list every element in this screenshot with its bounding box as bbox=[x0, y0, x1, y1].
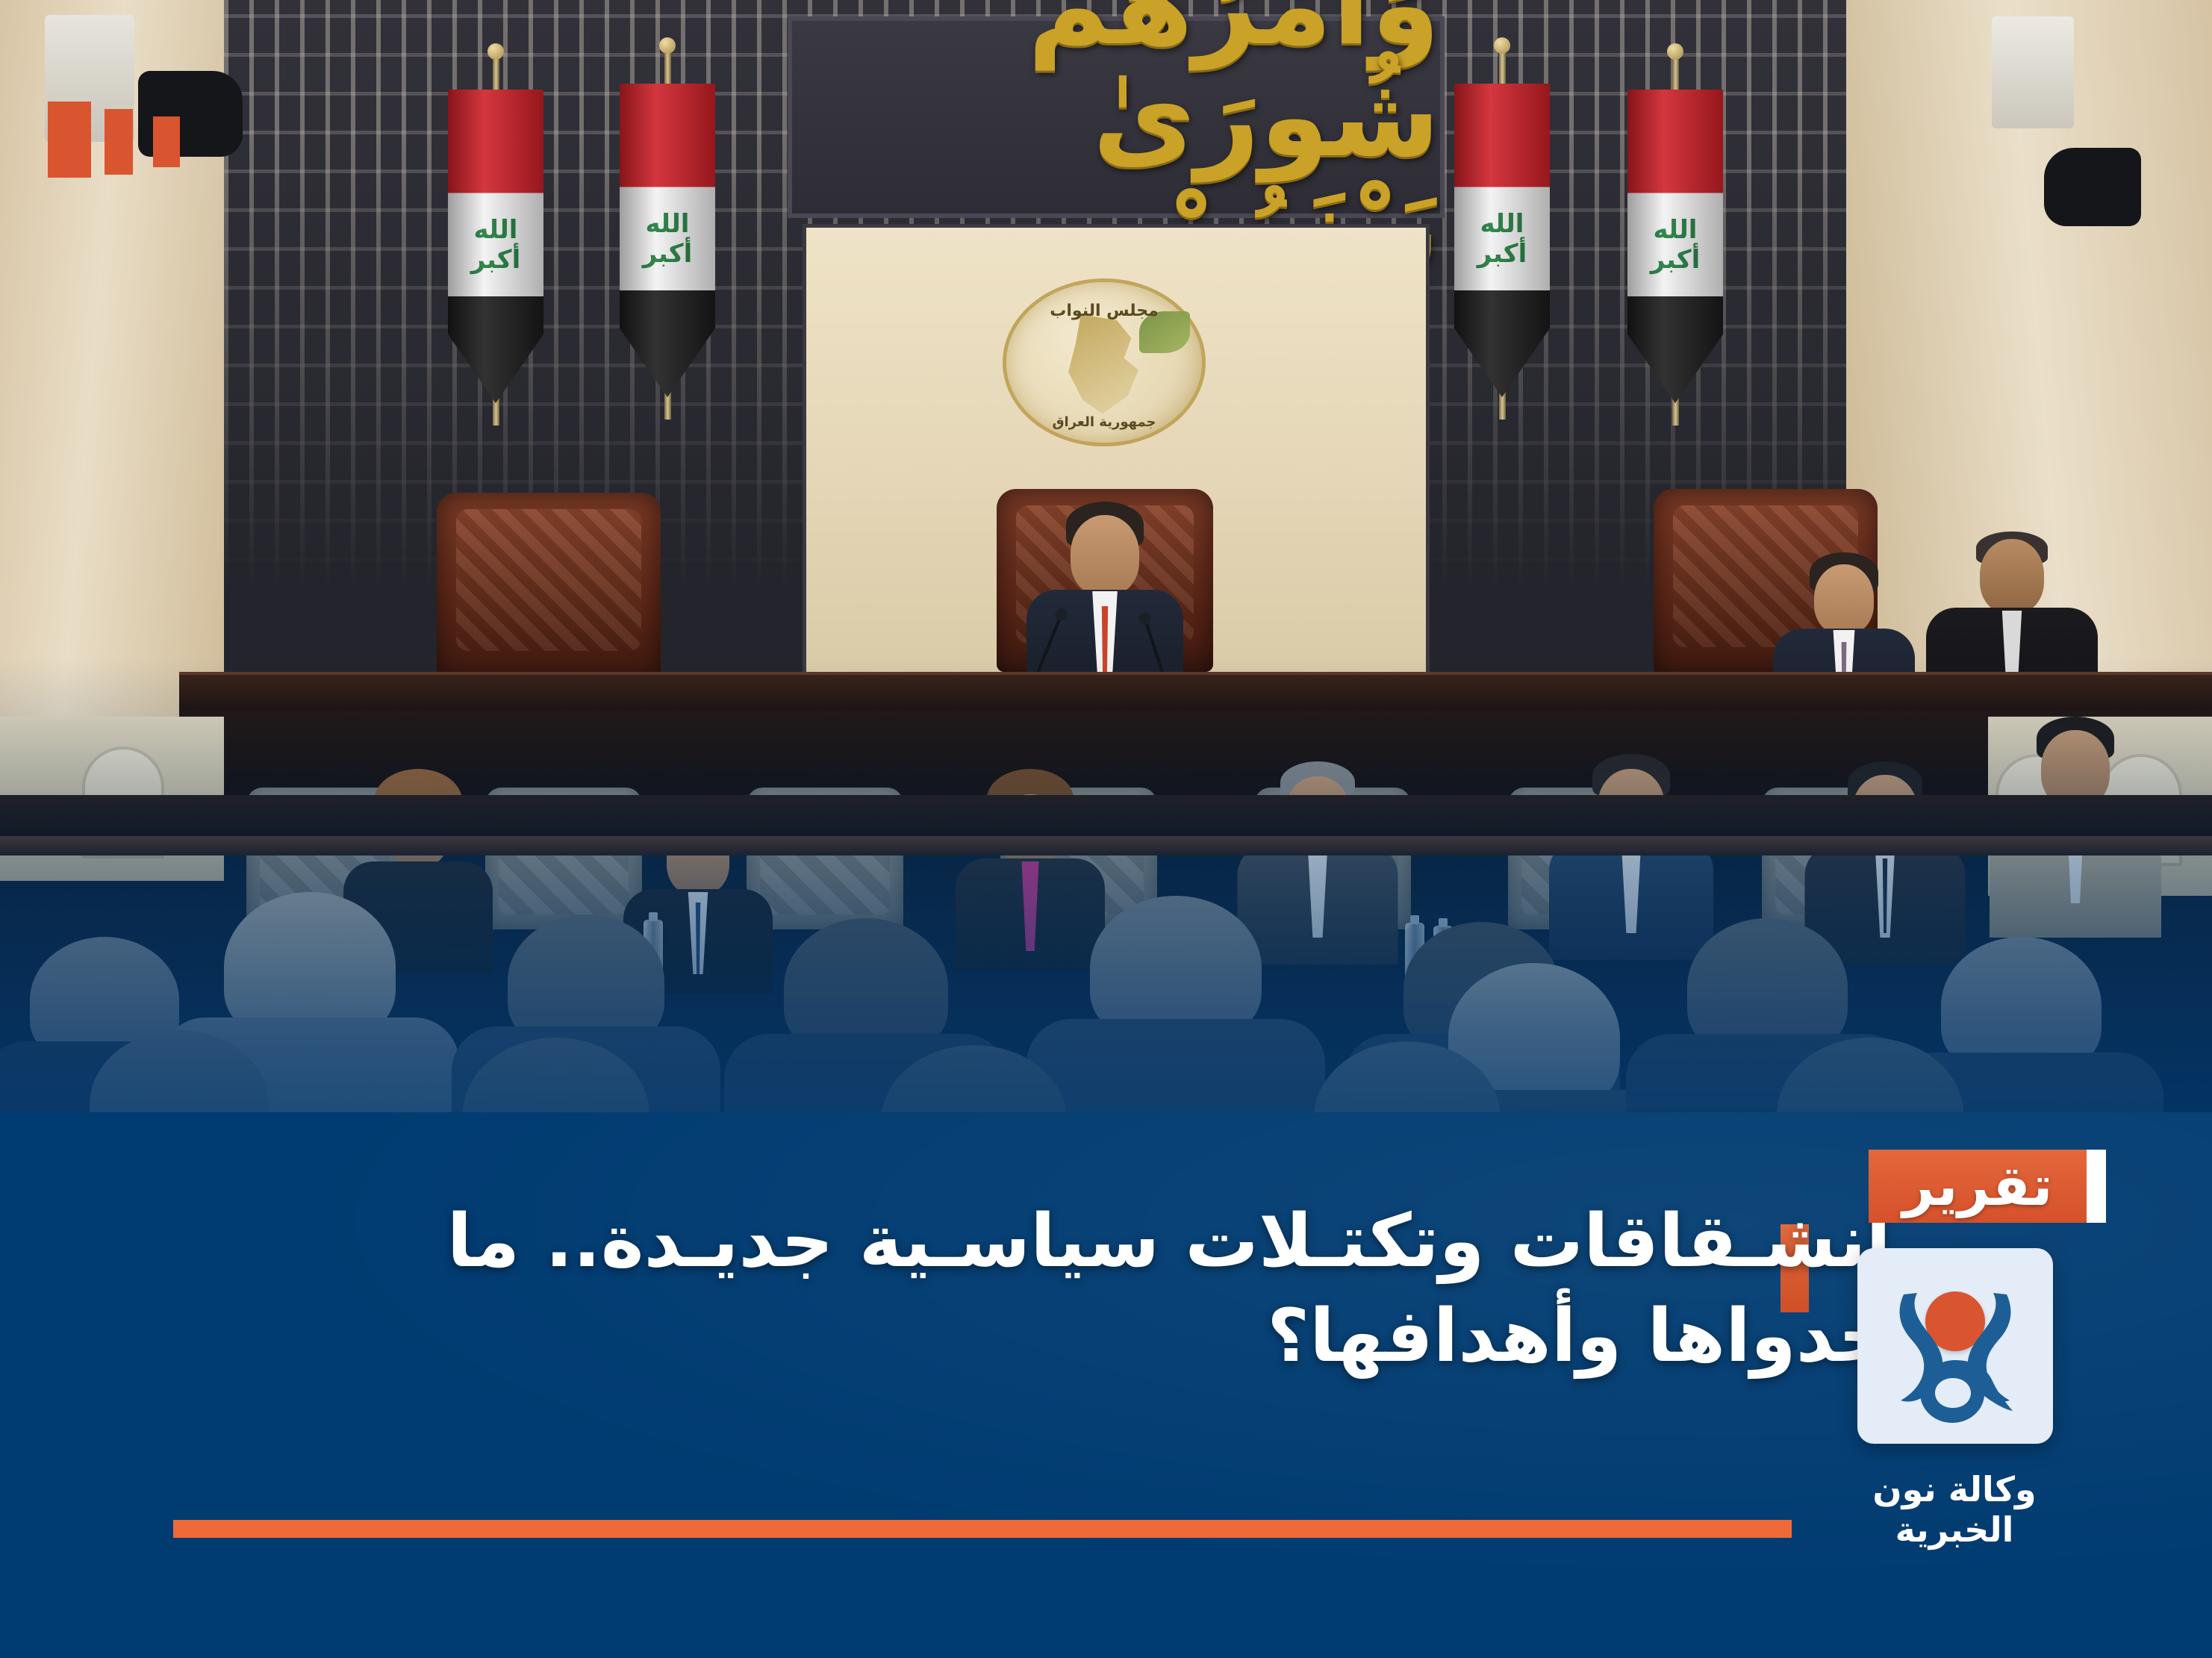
iraq-map-shape bbox=[1061, 314, 1151, 414]
agency-name: وكالة نون الخبرية bbox=[1809, 1469, 2100, 1550]
person-head bbox=[1814, 564, 1874, 635]
badge-white-edge bbox=[2087, 1150, 2106, 1223]
ceiling-camera-housing-right bbox=[1992, 16, 2074, 128]
flag-finial bbox=[487, 43, 504, 60]
chair-tufting bbox=[456, 509, 641, 651]
flag-shading bbox=[448, 90, 543, 403]
wall-calligraphy-text: وَأَمْرُهُمْ شُورَىٰ بَيْنَهُمْ bbox=[792, 21, 1440, 214]
news-card-canvas: وَأَمْرُهُمْ شُورَىٰ بَيْنَهُمْ مجلس الن… bbox=[0, 0, 2212, 1658]
flag-shading bbox=[620, 84, 715, 397]
flag-finial bbox=[1667, 43, 1683, 60]
flag-finial bbox=[659, 37, 676, 54]
iraqi-flag-3: الله أكبر bbox=[1454, 84, 1550, 397]
ornate-chair-left bbox=[437, 493, 661, 679]
iraqi-flag-4: الله أكبر bbox=[1627, 90, 1723, 403]
calligraphy-plaque: وَأَمْرُهُمْ شُورَىٰ بَيْنَهُمْ bbox=[788, 16, 1445, 218]
logo-noon-glyph-icon bbox=[1857, 1248, 2053, 1444]
orange-mark-2 bbox=[105, 109, 133, 175]
headline-line-2: جدواها وأهدافها؟ bbox=[112, 1289, 1891, 1384]
flag-shading bbox=[1627, 90, 1723, 403]
parliament-emblem-icon: مجلس النواب جمهورية العراق bbox=[1006, 282, 1202, 443]
person-head bbox=[1071, 515, 1139, 596]
headline: انشـقاقات وتكتـلات سياسـية جديـدة.. ما ج… bbox=[112, 1194, 1891, 1385]
iraqi-flag-1: الله أكبر bbox=[448, 90, 543, 403]
agency-logo bbox=[1857, 1248, 2053, 1444]
report-badge: تقرير bbox=[1869, 1150, 2087, 1223]
person-head bbox=[1980, 539, 2044, 614]
emblem-top-text: مجلس النواب bbox=[1006, 302, 1202, 320]
flag-shading bbox=[1454, 84, 1550, 397]
iraqi-flag-2: الله أكبر bbox=[620, 84, 715, 397]
flag-finial bbox=[1494, 37, 1510, 54]
orange-mark-3 bbox=[153, 116, 180, 167]
orange-mark-1 bbox=[48, 102, 91, 178]
ceiling-camera-lens-icon-right bbox=[2044, 148, 2141, 226]
emblem-bottom-text: جمهورية العراق bbox=[1006, 414, 1202, 430]
headline-underline-rule bbox=[173, 1520, 1792, 1538]
headline-line-1: انشـقاقات وتكتـلات سياسـية جديـدة.. ما bbox=[447, 1199, 1891, 1284]
